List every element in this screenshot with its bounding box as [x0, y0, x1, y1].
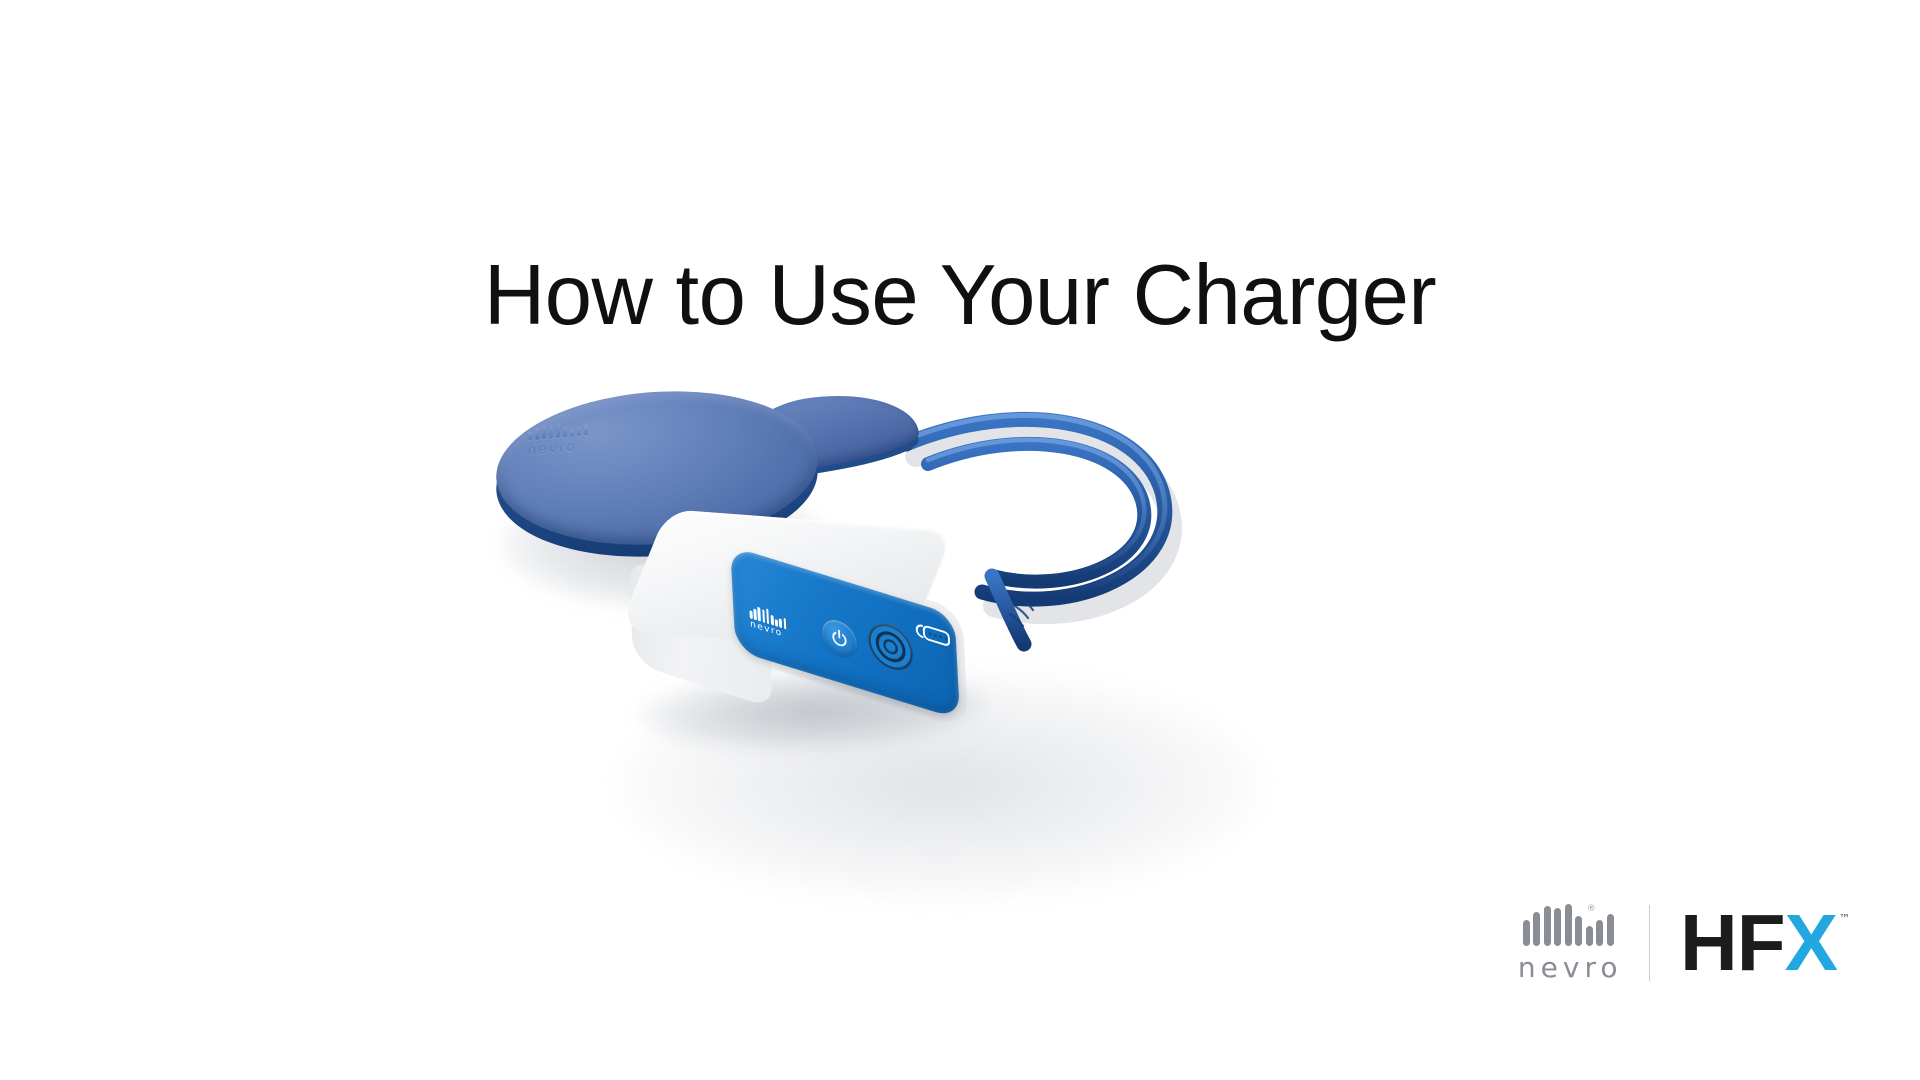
- hfx-logo: HF X ™: [1650, 906, 1850, 980]
- nevro-wordmark: nevro: [1514, 954, 1623, 982]
- product-image: nevro nevro: [560, 420, 1380, 940]
- trademark-icon: ™: [1839, 912, 1850, 925]
- charger-speaker-icon: [867, 618, 914, 676]
- power-icon: [830, 626, 849, 650]
- brand-lockup: ® nevro HF X ™: [1514, 898, 1850, 988]
- nevro-bars-icon: ®: [1523, 904, 1614, 946]
- page-title: How to Use Your Charger: [0, 253, 1920, 338]
- hfx-accent-letter: X: [1785, 906, 1837, 980]
- charger-body: nevro: [626, 514, 993, 746]
- nevro-logo: ® nevro: [1514, 904, 1649, 982]
- hfx-prefix: HF: [1680, 906, 1785, 980]
- slide-canvas: How to Use Your Charger: [0, 0, 1920, 1080]
- charger-nevro-logo: nevro: [749, 603, 809, 647]
- registered-trademark-icon: ®: [1587, 904, 1596, 914]
- battery-icon: [915, 619, 953, 652]
- charger-power-button[interactable]: [821, 616, 857, 661]
- charging-pad-nevro-emboss: nevro: [528, 419, 588, 458]
